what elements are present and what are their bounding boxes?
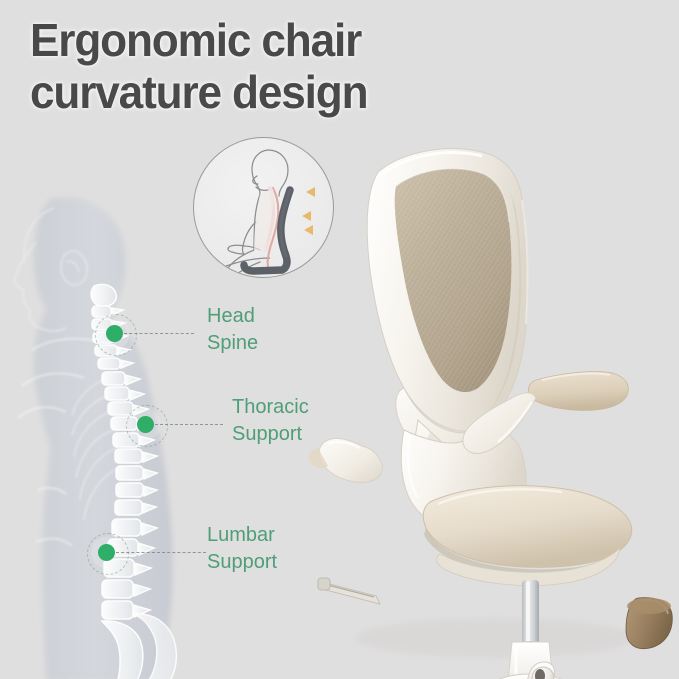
callout-head-spine: Head Spine (207, 303, 258, 357)
head-spine-leader (124, 333, 194, 334)
page-title: Ergonomic chair curvature design (30, 14, 367, 118)
thoracic-support-dot (137, 416, 154, 433)
callout-thoracic-support: Thoracic Support (232, 394, 309, 448)
gas-cylinder (522, 580, 539, 648)
chair-ground-shadow (355, 618, 635, 658)
office-chair-svg (300, 130, 679, 679)
armrest-right-pad (528, 371, 628, 410)
office-chair-image (300, 130, 679, 679)
human-spine-profile (0, 190, 222, 679)
product-infographic: Ergonomic chair curvature design (0, 0, 679, 679)
lumbar-support-leader (116, 552, 206, 553)
armrest-left (308, 438, 382, 482)
height-knob[interactable] (626, 598, 672, 649)
thoracic-support-leader (155, 424, 223, 425)
lumbar-support-dot (98, 544, 115, 561)
head-spine-dot (106, 325, 123, 342)
callout-lumbar-support: Lumbar Support (207, 522, 277, 576)
